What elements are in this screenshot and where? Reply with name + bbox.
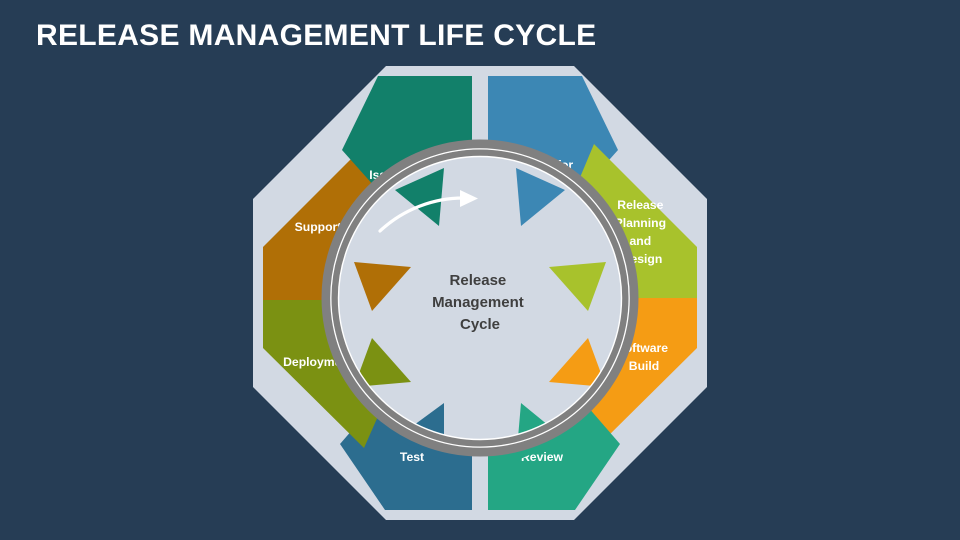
segment-label-test: Test <box>400 450 424 464</box>
release-management-cycle-diagram: Request for Change or New Features Relea… <box>230 58 730 528</box>
page-title: RELEASE MANAGEMENT LIFE CYCLE <box>36 19 596 53</box>
segment-label-support: Support <box>295 220 342 234</box>
cycle-diagram-svg: Request for Change or New Features Relea… <box>230 58 730 528</box>
slide-canvas: RELEASE MANAGEMENT LIFE CYCLE Request fo… <box>0 0 960 540</box>
